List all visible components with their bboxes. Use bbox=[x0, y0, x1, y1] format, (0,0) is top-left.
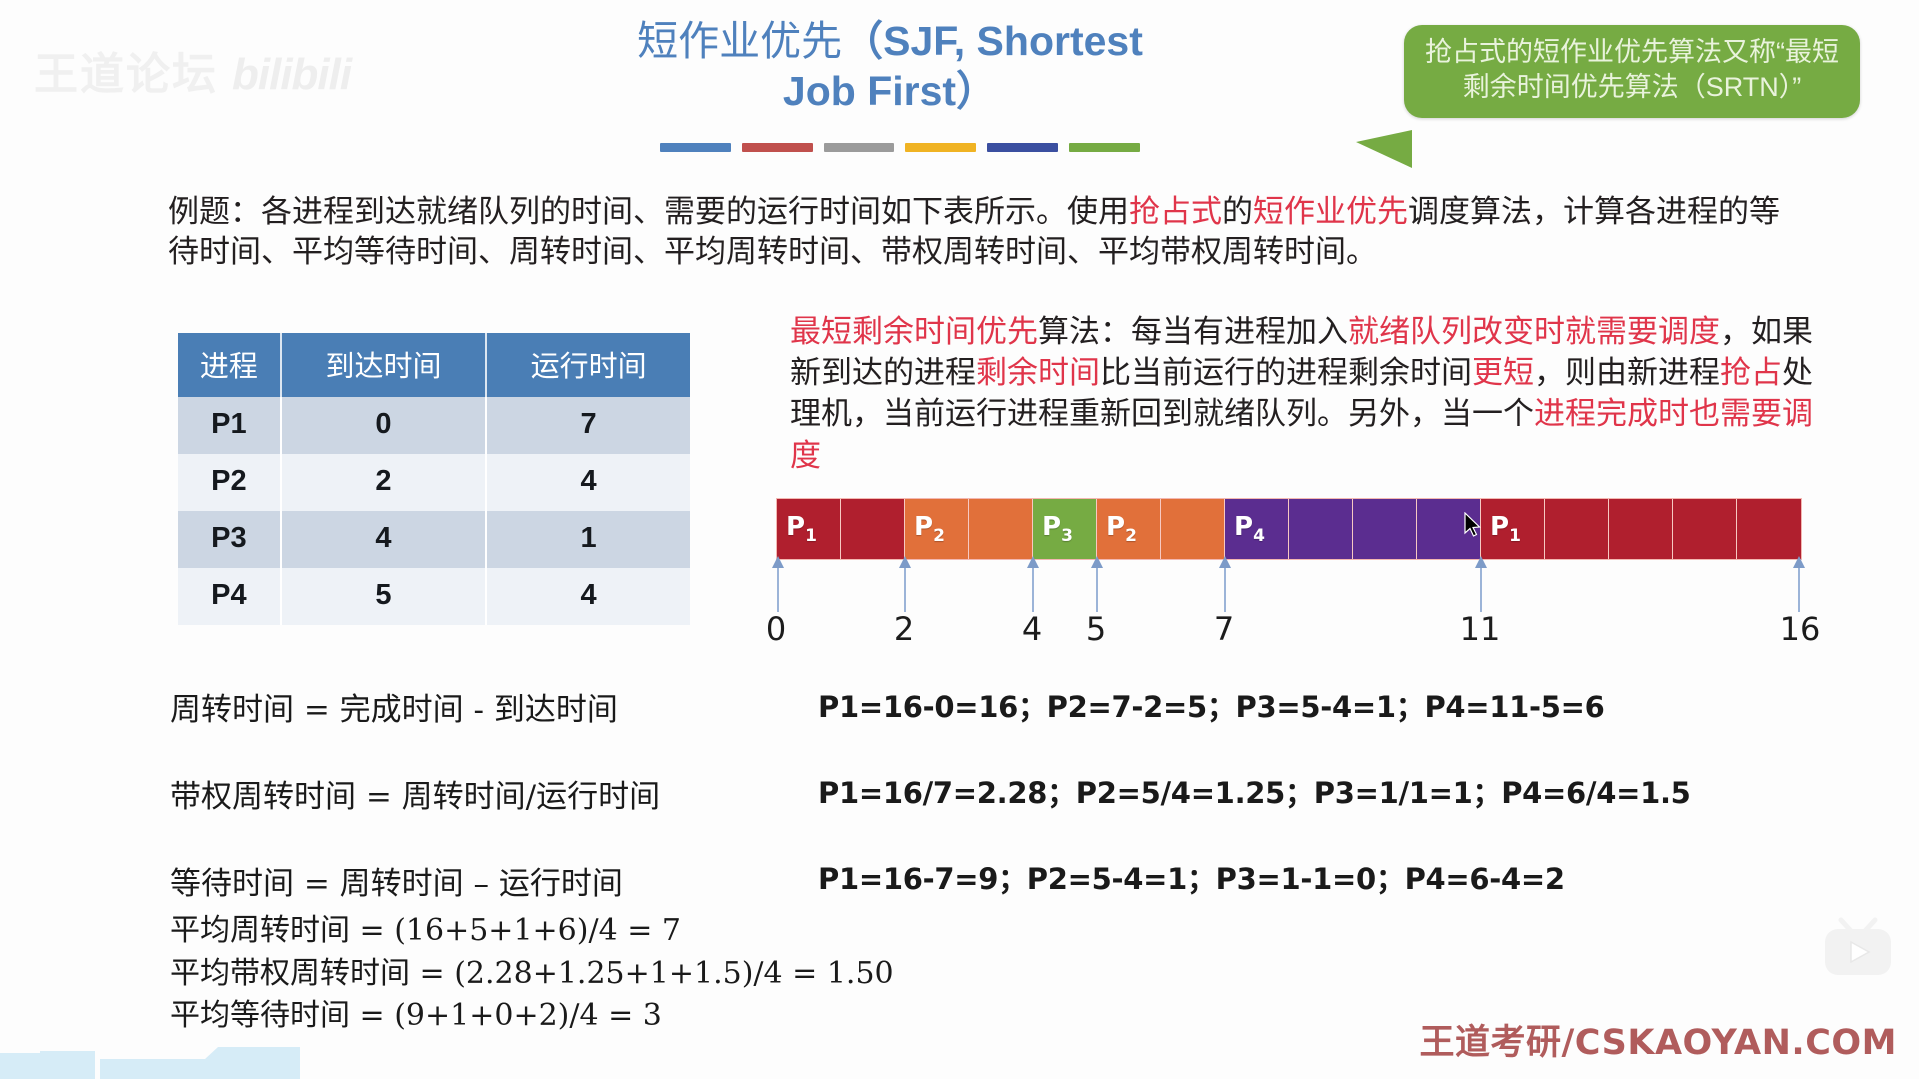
algorithm-description: 最短剩余时间优先算法：每当有进程加入就绪队列改变时就需要调度，如果新到达的进程剩… bbox=[790, 312, 1820, 477]
algo-seg-1: 算法：每当有进程加入 bbox=[1038, 314, 1348, 350]
axis-tick-label: 16 bbox=[1780, 610, 1821, 648]
gantt-cell-p1 bbox=[1609, 499, 1673, 559]
problem-highlight-preemptive: 抢占式 bbox=[1129, 194, 1222, 230]
cell-burst: 4 bbox=[486, 454, 690, 511]
slide-canvas: 王道论坛bilibili 短作业优先（SJF, Shortest Job Fir… bbox=[0, 0, 1919, 1079]
avg-weighted-turnaround: 平均带权周转时间 = (2.28+1.25+1+1.5)/4 = 1.50 bbox=[170, 953, 1170, 996]
axis-tick-label: 2 bbox=[894, 610, 914, 648]
axis-tick-arrow bbox=[1224, 564, 1226, 612]
underline-bar-2 bbox=[742, 143, 813, 152]
gantt-segment-label: P2 bbox=[1097, 512, 1137, 546]
algo-highlight-queue-change: 就绪队列改变时就需要调度 bbox=[1348, 314, 1720, 350]
gantt-cell-p1 bbox=[1673, 499, 1737, 559]
bilibili-logo-text: bilibili bbox=[232, 50, 351, 99]
formula-weighted-turnaround: 带权周转时间 = 周转时间/运行时间 bbox=[170, 771, 770, 816]
gantt-segment-label: P3 bbox=[1033, 512, 1073, 546]
algo-highlight-shorter: 更短 bbox=[1472, 355, 1534, 391]
calculation-list: P1=16-0=16；P2=7-2=5；P3=5-4=1；P4=11-5=6 P… bbox=[818, 684, 1718, 942]
watermark-forum-text: 王道论坛 bbox=[34, 50, 218, 99]
algo-highlight-srtn: 最短剩余时间优先 bbox=[790, 314, 1038, 350]
gantt-cell-p2: P2 bbox=[905, 499, 969, 559]
axis-tick-arrow bbox=[1096, 564, 1098, 612]
cell-arrival: 4 bbox=[281, 511, 486, 568]
callout-text: 抢占式的短作业优先算法又称“最短剩余时间优先算法（SRTN）” bbox=[1425, 37, 1839, 102]
gantt-cell-p2: P2 bbox=[1097, 499, 1161, 559]
table-header-row: 进程 到达时间 运行时间 bbox=[178, 333, 690, 397]
axis-tick-label: 4 bbox=[1022, 610, 1042, 648]
algo-highlight-remaining-time: 剩余时间 bbox=[976, 355, 1100, 391]
table-row: P4 5 4 bbox=[178, 568, 690, 625]
title-line-2: Job First） bbox=[560, 66, 1220, 116]
title-en-part1: （SJF, Shortest bbox=[842, 18, 1143, 64]
algo-seg-4: ，则由新进程 bbox=[1534, 355, 1720, 391]
callout-box: 抢占式的短作业优先算法又称“最短剩余时间优先算法（SRTN）” bbox=[1404, 25, 1860, 118]
cell-burst: 1 bbox=[486, 511, 690, 568]
axis-tick-arrow bbox=[1480, 564, 1482, 612]
underline-bar-3 bbox=[824, 143, 895, 152]
gantt-cell-p1 bbox=[1737, 499, 1801, 559]
axis-tick-label: 0 bbox=[766, 610, 786, 648]
algo-highlight-preempt: 抢占 bbox=[1720, 355, 1782, 391]
avg-waiting: 平均等待时间 = (9+1+0+2)/4 = 3 bbox=[170, 995, 1170, 1038]
table-row: P3 4 1 bbox=[178, 511, 690, 568]
gantt-segment-label: P2 bbox=[905, 512, 945, 546]
underline-bar-6 bbox=[1069, 143, 1140, 152]
axis-tick-label: 5 bbox=[1086, 610, 1106, 648]
problem-seg-1: 例题：各进程到达就绪队列的时间、需要的运行时间如下表所示。使用 bbox=[168, 194, 1129, 230]
underline-bar-1 bbox=[660, 143, 731, 152]
watermark-top-left: 王道论坛bilibili bbox=[34, 38, 351, 102]
problem-highlight-sjf: 短作业优先 bbox=[1253, 194, 1408, 230]
gantt-chart: P1P2P3P2P4P1 bbox=[776, 498, 1802, 560]
gantt-axis-tick-labels: 024571116 bbox=[776, 610, 1802, 650]
formula-list: 周转时间 = 完成时间 - 到达时间 带权周转时间 = 周转时间/运行时间 等待… bbox=[170, 684, 770, 945]
formula-turnaround: 周转时间 = 完成时间 - 到达时间 bbox=[170, 684, 770, 729]
cell-process: P2 bbox=[178, 454, 281, 511]
average-results: 平均周转时间 = (16+5+1+6)/4 = 7 平均带权周转时间 = (2.… bbox=[170, 910, 1170, 1038]
title-line-1: 短作业优先（SJF, Shortest bbox=[560, 16, 1220, 66]
axis-tick-arrow bbox=[1032, 564, 1034, 612]
cell-process: P3 bbox=[178, 511, 281, 568]
table-row: P2 2 4 bbox=[178, 454, 690, 511]
cell-arrival: 0 bbox=[281, 397, 486, 454]
th-burst: 运行时间 bbox=[486, 333, 690, 397]
decorative-wave bbox=[0, 1009, 300, 1079]
algo-seg-3: 比当前运行的进程剩余时间 bbox=[1100, 355, 1472, 391]
gantt-cell-p4 bbox=[1289, 499, 1353, 559]
process-table: 进程 到达时间 运行时间 P1 0 7 P2 2 4 P3 4 1 P4 bbox=[178, 333, 690, 625]
avg-turnaround: 平均周转时间 = (16+5+1+6)/4 = 7 bbox=[170, 910, 1170, 953]
underline-bar-5 bbox=[987, 143, 1058, 152]
gantt-axis-arrows bbox=[776, 558, 1802, 612]
cell-arrival: 5 bbox=[281, 568, 486, 625]
axis-tick-label: 11 bbox=[1460, 610, 1501, 648]
axis-tick-arrow bbox=[777, 564, 779, 612]
problem-statement: 例题：各进程到达就绪队列的时间、需要的运行时间如下表所示。使用抢占式的短作业优先… bbox=[168, 192, 1808, 273]
formula-waiting: 等待时间 = 周转时间 – 运行时间 bbox=[170, 858, 770, 903]
gantt-cell-p4 bbox=[1353, 499, 1417, 559]
cell-process: P4 bbox=[178, 568, 281, 625]
table-row: P1 0 7 bbox=[178, 397, 690, 454]
th-arrival: 到达时间 bbox=[281, 333, 486, 397]
gantt-cell-p3: P3 bbox=[1033, 499, 1097, 559]
cell-burst: 7 bbox=[486, 397, 690, 454]
gantt-cell-p1 bbox=[841, 499, 905, 559]
title-cn: 短作业优先 bbox=[637, 18, 842, 64]
gantt-cell-p2 bbox=[1161, 499, 1225, 559]
footer-watermark: 王道考研/CSKAOYAN.COM bbox=[1420, 1014, 1897, 1065]
calc-turnaround: P1=16-0=16；P2=7-2=5；P3=5-4=1；P4=11-5=6 bbox=[818, 684, 1718, 726]
axis-tick-arrow bbox=[904, 564, 906, 612]
cell-burst: 4 bbox=[486, 568, 690, 625]
title-en-part2: Job First） bbox=[783, 68, 997, 114]
callout-tail bbox=[1356, 130, 1412, 168]
gantt-cell-p1 bbox=[1545, 499, 1609, 559]
title-underline-bars bbox=[660, 143, 1140, 152]
calc-weighted-turnaround: P1=16/7=2.28；P2=5/4=1.25；P3=1/1=1；P4=6/4… bbox=[818, 770, 1718, 812]
page-title: 短作业优先（SJF, Shortest Job First） bbox=[560, 16, 1220, 116]
gantt-cell-p1: P1 bbox=[777, 499, 841, 559]
axis-tick-label: 7 bbox=[1214, 610, 1234, 648]
cell-process: P1 bbox=[178, 397, 281, 454]
bilibili-tv-icon bbox=[1821, 917, 1895, 979]
axis-tick-arrow bbox=[1798, 564, 1800, 612]
gantt-segment-label: P1 bbox=[777, 512, 817, 546]
calc-waiting: P1=16-7=9；P2=5-4=1；P3=1-1=0；P4=6-4=2 bbox=[818, 856, 1718, 898]
gantt-cell-p2 bbox=[969, 499, 1033, 559]
gantt-cell-p1: P1 bbox=[1481, 499, 1545, 559]
th-process: 进程 bbox=[178, 333, 281, 397]
gantt-segment-label: P4 bbox=[1225, 512, 1265, 546]
cell-arrival: 2 bbox=[281, 454, 486, 511]
problem-seg-2: 的 bbox=[1222, 194, 1253, 230]
gantt-segment-label: P1 bbox=[1481, 512, 1521, 546]
underline-bar-4 bbox=[905, 143, 976, 152]
gantt-cell-p4: P4 bbox=[1225, 499, 1289, 559]
mouse-cursor-icon bbox=[1464, 512, 1482, 538]
